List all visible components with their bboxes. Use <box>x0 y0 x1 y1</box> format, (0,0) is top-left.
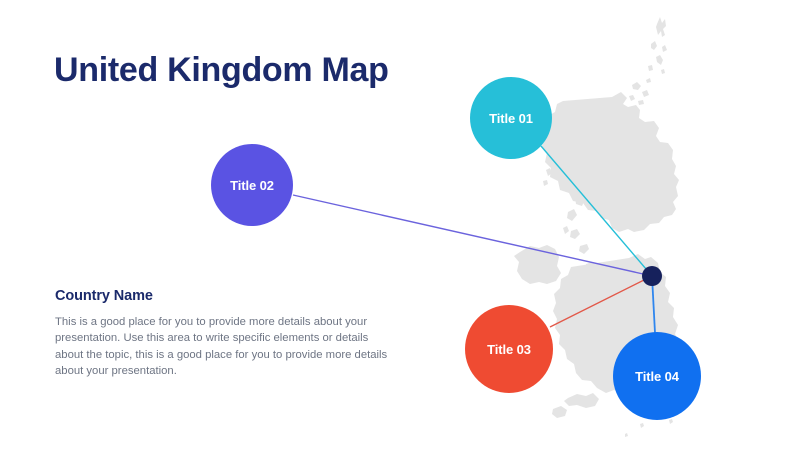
connector-line-01 <box>541 146 652 276</box>
page-title: United Kingdom Map <box>54 51 389 90</box>
slide-canvas: Title 01 Title 02 Title 03 Title 04 Unit… <box>0 0 800 450</box>
map-marker-label-02: Title 02 <box>230 178 274 193</box>
map-marker-title-04[interactable]: Title 04 <box>613 332 701 420</box>
map-hub-point[interactable] <box>642 266 662 286</box>
map-marker-title-02[interactable]: Title 02 <box>211 144 293 226</box>
description-block: Country Name This is a good place for yo… <box>55 288 395 380</box>
map-marker-title-03[interactable]: Title 03 <box>465 305 553 393</box>
map-marker-title-01[interactable]: Title 01 <box>470 77 552 159</box>
connector-line-03 <box>550 276 652 327</box>
map-marker-label-01: Title 01 <box>489 111 533 126</box>
map-marker-label-03: Title 03 <box>487 342 531 357</box>
connector-line-02 <box>293 195 652 276</box>
map-marker-label-04: Title 04 <box>635 369 679 384</box>
country-description-text: This is a good place for you to provide … <box>55 314 395 380</box>
country-name-heading: Country Name <box>55 288 395 304</box>
